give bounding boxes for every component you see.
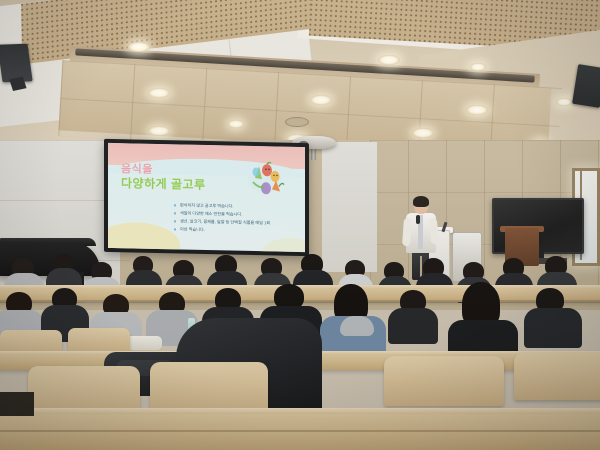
- desk-gap-shadow: [0, 392, 34, 416]
- downlight-11: [556, 98, 572, 106]
- student-dark-coat-body: [388, 308, 438, 344]
- seatback-c3: [384, 356, 504, 406]
- ceiling-speaker-right: [572, 64, 600, 108]
- handheld-microphone-icon: [416, 215, 420, 224]
- presentation-slide: 음식을 다양하게 골고루 편식하지 않고 골고루 먹습니다. 색깔이 다양한: [108, 143, 305, 252]
- slide-bullet-3-cont: 이상 먹습니다.: [174, 225, 297, 236]
- ceiling-speaker-left: [0, 44, 33, 83]
- student-dark-coat-body: [524, 308, 582, 348]
- denim-jacket-hood: [340, 316, 374, 336]
- downlight-10: [470, 63, 486, 71]
- downlight-12: [228, 120, 244, 128]
- desk-row-c-seam: [0, 430, 600, 432]
- desk-row-c-edge: [0, 408, 600, 414]
- slide-bullet-list: 편식하지 않고 골고루 먹습니다. 색깔이 다양한 채소 반찬을 먹습니다. 생…: [134, 201, 297, 236]
- vegetable-characters-illustration: [245, 158, 289, 203]
- downlight-8: [412, 128, 434, 138]
- downlight-1: [128, 42, 150, 52]
- presenter-arm-right: [429, 218, 440, 245]
- downlight-2: [378, 55, 400, 65]
- seatback-c4: [514, 352, 600, 400]
- presenter-hair: [413, 196, 429, 207]
- downlight-3: [466, 105, 488, 115]
- slide-title: 음식을 다양하게 골고루: [121, 163, 206, 192]
- lecture-hall-photo: 음식을 다양하게 골고루 편식하지 않고 골고루 먹습니다. 색깔이 다양한: [0, 0, 600, 450]
- ceiling: [0, 0, 600, 150]
- downlight-6: [148, 126, 170, 136]
- downlight-4: [148, 88, 170, 98]
- projection-screen: 음식을 다양하게 골고루 편식하지 않고 골고루 먹습니다. 색깔이 다양한: [104, 139, 309, 256]
- ceiling-vent: [285, 117, 309, 127]
- downlight-5: [310, 95, 332, 105]
- wall-white-center: [322, 142, 377, 272]
- slide-title-line2: 다양하게 골고루: [121, 176, 206, 192]
- slide-corner-blob-right: [261, 237, 305, 252]
